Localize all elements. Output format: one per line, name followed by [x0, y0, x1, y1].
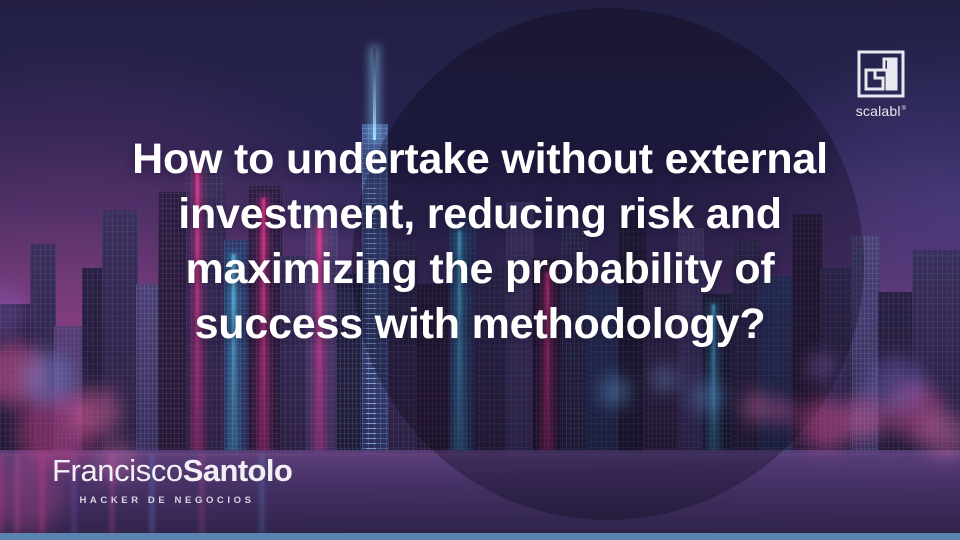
scalabl-wordmark-text: scalabl: [856, 103, 901, 119]
speaker-last-name: Santolo: [183, 453, 292, 488]
scalabl-square-mark-icon: [857, 50, 905, 98]
bottom-accent-bar: [0, 533, 960, 540]
trademark-symbol: ®: [902, 106, 907, 112]
speaker-first-name: Francisco: [52, 453, 183, 488]
speaker-name: FranciscoSantolo: [52, 455, 282, 486]
scalabl-wordmark: scalabl®: [856, 103, 907, 119]
presentation-slide: How to undertake without external invest…: [0, 0, 960, 540]
scalabl-logo: scalabl®: [850, 50, 912, 121]
speaker-signature: FranciscoSantolo HACKER DE NEGOCIOS: [52, 455, 282, 506]
speaker-tagline: HACKER DE NEGOCIOS: [52, 495, 282, 506]
slide-title: How to undertake without external invest…: [90, 132, 870, 352]
